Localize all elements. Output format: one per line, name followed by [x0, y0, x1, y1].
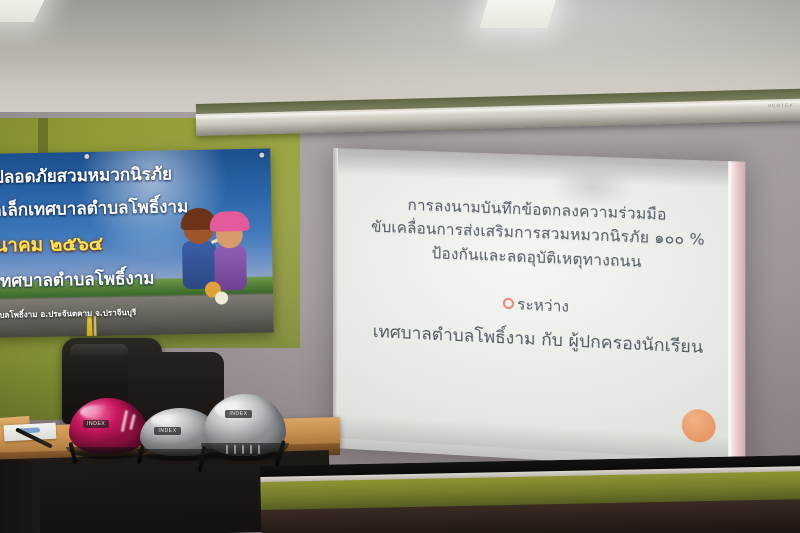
helmet-pink-streak-1 — [121, 410, 129, 432]
roller-brand-label: VERTEX — [768, 103, 794, 110]
banner-grommet-mid — [84, 154, 89, 159]
helmet-vent-4 — [250, 445, 252, 454]
helmet-pink-shell: INDEX — [69, 398, 147, 454]
banner-date-line: วันที่ ๕ มีนาคม ๒๕๖๔ — [0, 226, 264, 263]
slide-parties: เทศบาลตำบลโพธิ์งาม กับ ผู้ปกครองนักเรียน — [373, 318, 703, 361]
helmet-silver-low-logo: INDEX — [154, 427, 180, 435]
event-banner: ...การขับขี่ปลอดภัยสวมหมวกนิรภัย ...พัฒน… — [0, 148, 274, 339]
banner-venue-line: ...องประชุมเทศบาลตำบลโพธิ์งาม — [0, 263, 265, 297]
slide-between-row: ระหว่าง — [503, 291, 569, 318]
office-chair-highlight — [70, 344, 128, 358]
helmet-vent-2 — [234, 445, 236, 454]
lower-wall-strip — [260, 455, 800, 533]
ceiling-light-center — [480, 0, 561, 28]
helmet-silver-tall-shell: INDEX — [204, 394, 286, 456]
helmet-silver-tall: INDEX — [204, 394, 286, 456]
helmet-silver-low-gloss — [151, 414, 186, 426]
helmet-pink-streak-2 — [129, 414, 136, 430]
helmet-pink-gloss — [80, 405, 114, 420]
helmet-vent-3 — [242, 445, 244, 454]
left-corner-shadow — [0, 460, 40, 533]
banner-line-1: ...การขับขี่ปลอดภัยสวมหมวกนิรภัย — [0, 159, 263, 193]
helmet-silver-tall-logo: INDEX — [225, 410, 251, 418]
helmet-pink: INDEX — [69, 398, 147, 454]
circle-bullet-icon — [503, 298, 514, 310]
helmet-pink-logo: INDEX — [83, 420, 109, 428]
banner-footer-line: ...พัฒนาเด็กเล็กเทศบาลตำบลโพธิ์งาม อ.ประ… — [0, 304, 265, 324]
banner-line-2: ...พัฒนาเด็กเล็กเทศบาลตำบลโพธิ์งาม — [0, 192, 264, 226]
helmet-vent-1 — [226, 445, 228, 454]
banner-text-block: ...การขับขี่ปลอดภัยสวมหมวกนิรภัย ...พัฒน… — [0, 148, 274, 339]
helmet-vent-5 — [258, 445, 260, 454]
slide-between-label: ระหว่าง — [517, 292, 569, 319]
photo-scene: VERTEX การลงนามบันทึกข้อตกลงความร่วมมือ … — [0, 0, 800, 533]
banner-grommet-right — [259, 153, 264, 158]
screen-surface: การลงนามบันทึกข้อตกลงความร่วมมือ ขับเคลื… — [333, 148, 745, 472]
projection-screen: การลงนามบันทึกข้อตกลงความร่วมมือ ขับเคลื… — [333, 148, 753, 458]
